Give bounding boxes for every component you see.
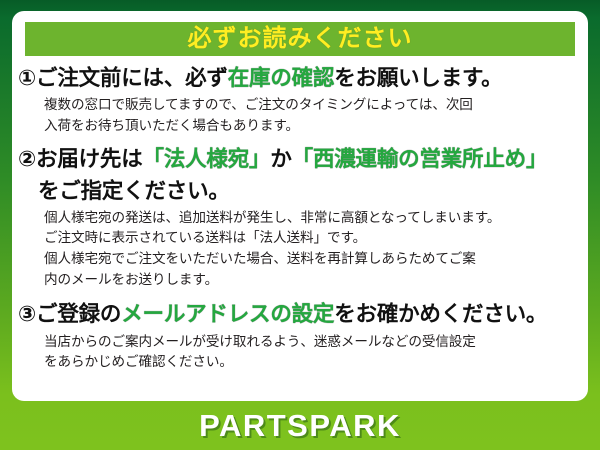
notice-item-2: ②お届け先は「法人様宛」か「西濃運輸の営業所止め」 をご指定ください。 個人様宅…	[12, 144, 588, 290]
notice-item-list: ①ご注文前には、必ず在庫の確認をお願いします。 複数の窓口で販売してますので、ご…	[12, 63, 588, 373]
notice-item-1: ①ご注文前には、必ず在庫の確認をお願いします。 複数の窓口で販売してますので、ご…	[12, 63, 588, 136]
item-1-body-line-1: 複数の窓口で販売してますので、ご注文のタイミングによっては、次回	[44, 95, 572, 116]
item-3-body: 当店からのご案内メールが受け取れるよう、迷惑メールなどの受信設定 をあらかじめご…	[18, 332, 578, 373]
notice-item-3: ③ご登録のメールアドレスの設定をお確かめください。 当店からのご案内メールが受け…	[12, 299, 588, 372]
item-2-heading-part-3: か	[270, 147, 291, 171]
item-1-body-line-2: 入荷をお待ち頂いただく場合もあります。	[44, 116, 572, 137]
item-1-marker: ①	[18, 66, 36, 90]
item-1-body: 複数の窓口で販売してますので、ご注文のタイミングによっては、次回 入荷をお待ち頂…	[18, 95, 578, 136]
item-3-marker: ③	[18, 302, 36, 326]
item-2-marker: ②	[18, 147, 36, 171]
item-3-heading: ③ご登録のメールアドレスの設定をお確かめください。	[18, 299, 578, 330]
brand-name: PARTSPARK	[199, 410, 401, 441]
item-3-heading-highlight: メールアドレスの設定	[121, 302, 334, 326]
notice-title-bar: 必ずお読みください	[25, 22, 575, 56]
item-3-body-line-1: 当店からのご案内メールが受け取れるよう、迷惑メールなどの受信設定	[44, 332, 572, 353]
item-2-body-line-3: 個人様宅宛でご注文をいただいた場合、送料を再計算しあらためてご案	[44, 249, 572, 270]
item-1-heading-highlight: 在庫の確認	[228, 66, 335, 90]
item-1-heading-part-3: をお願いします。	[334, 66, 502, 90]
item-2-body-line-4: 内のメールをお送りします。	[44, 270, 572, 291]
item-3-heading-part-1: ご登録の	[36, 302, 121, 326]
item-1-heading-part-1: ご注文前には、必ず	[36, 66, 228, 90]
page-title: 必ずお読みください	[188, 27, 413, 51]
notice-card: 必ずお読みください ①ご注文前には、必ず在庫の確認をお願いします。 複数の窓口で…	[12, 11, 588, 401]
footer-brand-bar: PARTSPARK	[0, 401, 600, 450]
item-2-heading-highlight-2: 「西濃運輸の営業所止め」	[292, 147, 548, 171]
item-3-heading-part-3: をお確かめください。	[334, 302, 547, 326]
notice-poster: 必ずお読みください ①ご注文前には、必ず在庫の確認をお願いします。 複数の窓口で…	[0, 0, 600, 450]
item-2-heading-line-2: をご指定ください。	[18, 176, 578, 207]
item-2-body-line-2: ご注文時に表示されている送料は「法人送料」です。	[44, 228, 572, 249]
item-2-heading-part-1: お届け先は	[36, 147, 143, 171]
item-2-body: 個人様宅宛の発送は、追加送料が発生し、非常に高額となってしまいます。 ご注文時に…	[18, 208, 578, 291]
item-2-heading: ②お届け先は「法人様宛」か「西濃運輸の営業所止め」 をご指定ください。	[18, 144, 578, 206]
item-1-heading: ①ご注文前には、必ず在庫の確認をお願いします。	[18, 63, 578, 94]
item-2-heading-highlight-1: 「法人様宛」	[143, 147, 271, 171]
item-2-body-line-1: 個人様宅宛の発送は、追加送料が発生し、非常に高額となってしまいます。	[44, 208, 572, 229]
item-3-body-line-2: をあらかじめご確認ください。	[44, 352, 572, 373]
